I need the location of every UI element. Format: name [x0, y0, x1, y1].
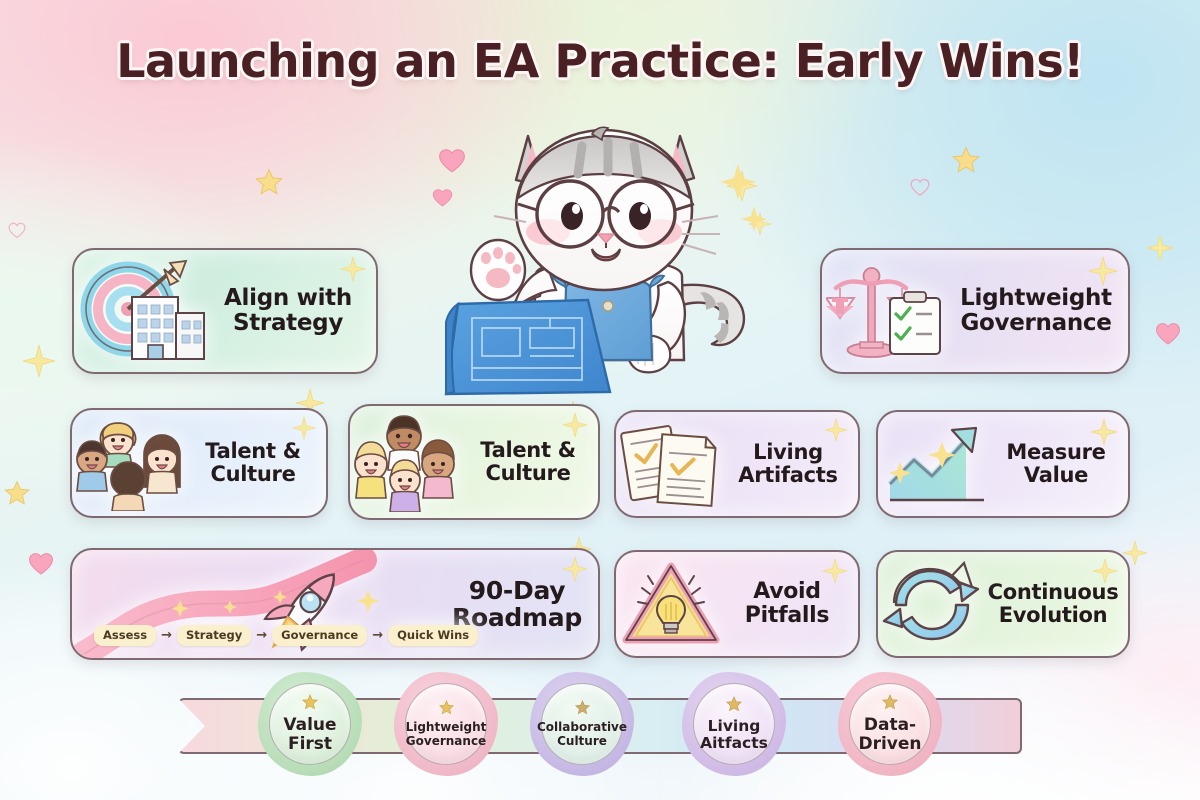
card-avoid-pitfalls[interactable]: Avoid Pitfalls: [614, 550, 860, 658]
roadmap-steps: Assess → Strategy → Governance → Quick W…: [94, 625, 478, 646]
card-label: Align with Strategy: [214, 286, 376, 336]
documents-check-icon: [616, 416, 728, 512]
sparkle-icon: [562, 412, 588, 443]
sparkle-icon: [1088, 256, 1118, 291]
sparkle-icon: [822, 558, 848, 589]
target-building-icon: [74, 256, 214, 366]
people-group-icon: [350, 410, 468, 514]
sparkle-icon: [340, 256, 366, 287]
badge-collaborative-culture[interactable]: Collaborative Culture: [530, 672, 634, 776]
badge-inner: Collaborative Culture: [541, 683, 623, 765]
badge-data-driven[interactable]: Data-Driven: [838, 672, 942, 776]
growth-arrow-chart-icon: [878, 416, 994, 512]
card-lightweight-governance[interactable]: Lightweight Governance: [820, 248, 1130, 374]
card-label: Living Artifacts: [728, 441, 858, 486]
badge-label: Data-Driven: [850, 716, 930, 753]
poster-canvas: Launching an EA Practice: Early Wins!: [0, 0, 1200, 800]
scales-checklist-icon: [822, 255, 954, 367]
badge-label: Living Aitfacts: [694, 718, 774, 752]
star-icon: [4, 480, 30, 511]
badge-inner: Lightweight Governance: [405, 683, 487, 765]
heart-icon: [8, 222, 26, 244]
page-title: Launching an EA Practice: Early Wins!: [0, 34, 1200, 88]
sparkle-icon: [22, 344, 56, 378]
rocket-trail-icon: Assess → Strategy → Governance → Quick W…: [72, 550, 450, 658]
sparkle-icon: [1092, 558, 1118, 589]
card-talent-and-culture-center[interactable]: Talent & Culture: [348, 404, 600, 520]
arrow-right-icon: →: [372, 628, 383, 643]
warning-lightbulb-icon: [616, 556, 726, 652]
sparkle-icon: [292, 416, 316, 445]
badge-living-aitfacts[interactable]: Living Aitfacts: [682, 672, 786, 776]
badge-label: Value First: [270, 716, 350, 753]
star-icon: [575, 700, 590, 720]
star-icon: [439, 700, 454, 720]
star-icon: [255, 168, 283, 201]
card-label: Talent & Culture: [468, 439, 598, 484]
sparkle-icon: [562, 556, 588, 587]
badge-value-first[interactable]: Value First: [258, 672, 362, 776]
card-label: Talent & Culture: [190, 440, 326, 485]
star-icon: [302, 694, 318, 715]
card-label: Lightweight Governance: [954, 286, 1128, 336]
roadmap-chip[interactable]: Governance: [272, 625, 367, 646]
card-living-artifacts[interactable]: Living Artifacts: [614, 410, 860, 518]
card-measure-value[interactable]: Measure Value: [876, 410, 1130, 518]
badge-inner: Data-Driven: [849, 683, 931, 765]
badge-lightweight-governance[interactable]: Lightweight Governance: [394, 672, 498, 776]
sparkle-icon: [824, 418, 848, 447]
arrow-right-icon: →: [161, 628, 172, 643]
roadmap-chip[interactable]: Quick Wins: [388, 625, 478, 646]
badge-inner: Living Aitfacts: [693, 683, 775, 765]
card-continuous-evolution[interactable]: Continuous Evolution: [876, 550, 1130, 658]
badge-inner: Value First: [269, 683, 351, 765]
badge-label: Collaborative Culture: [532, 721, 632, 747]
heart-icon: [1155, 322, 1181, 351]
roadmap-chip[interactable]: Assess: [94, 625, 156, 646]
roadmap-chip[interactable]: Strategy: [177, 625, 251, 646]
heart-icon: [910, 178, 930, 202]
badge-label: Lightweight Governance: [401, 721, 492, 747]
star-icon: [726, 696, 742, 717]
people-group-icon: [72, 413, 190, 513]
heart-icon: [28, 552, 54, 581]
arrow-right-icon: →: [256, 628, 267, 643]
card-ninety-day-roadmap[interactable]: Assess → Strategy → Governance → Quick W…: [70, 548, 600, 660]
recycle-arrows-icon: [878, 557, 986, 651]
card-align-with-strategy[interactable]: Align with Strategy: [72, 248, 378, 374]
star-icon: [952, 146, 980, 179]
star-icon: [882, 694, 898, 715]
sparkle-icon: [1090, 418, 1118, 451]
cat-architect-mascot: [432, 92, 782, 412]
sparkle-icon: [1146, 234, 1174, 262]
card-talent-and-culture-left[interactable]: Talent & Culture: [70, 408, 328, 518]
